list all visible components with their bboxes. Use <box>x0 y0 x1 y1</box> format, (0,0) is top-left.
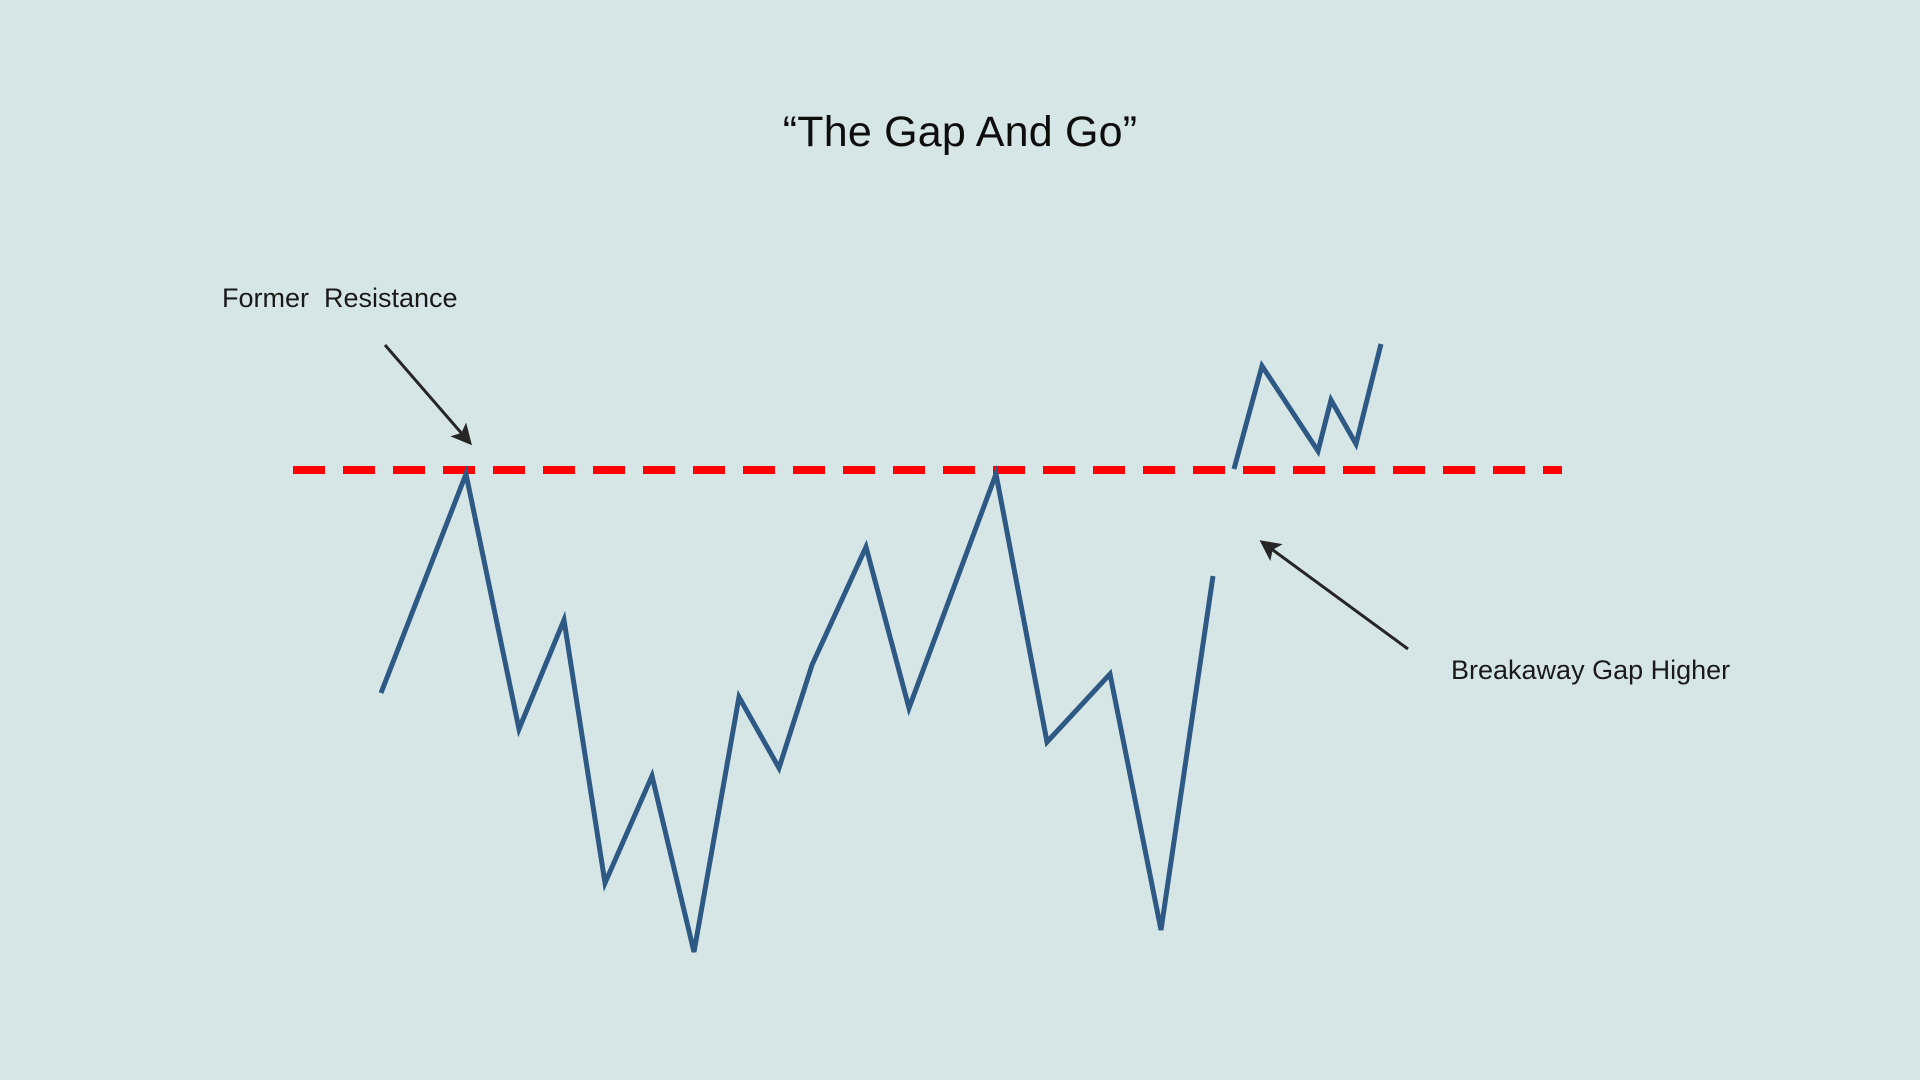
former-resistance-arrow <box>385 345 470 443</box>
chart-canvas: “The Gap And Go” Former Resistance Break… <box>0 0 1920 1080</box>
price-line-after-gap <box>1234 344 1381 469</box>
breakaway-gap-arrow <box>1262 542 1408 649</box>
annotation-label-breakaway-gap: Breakaway Gap Higher <box>1451 655 1730 686</box>
annotation-label-former-resistance: Former Resistance <box>222 283 458 314</box>
page-title: “The Gap And Go” <box>0 108 1920 157</box>
price-line-before-gap <box>381 474 1213 952</box>
price-chart-svg <box>0 0 1920 1080</box>
